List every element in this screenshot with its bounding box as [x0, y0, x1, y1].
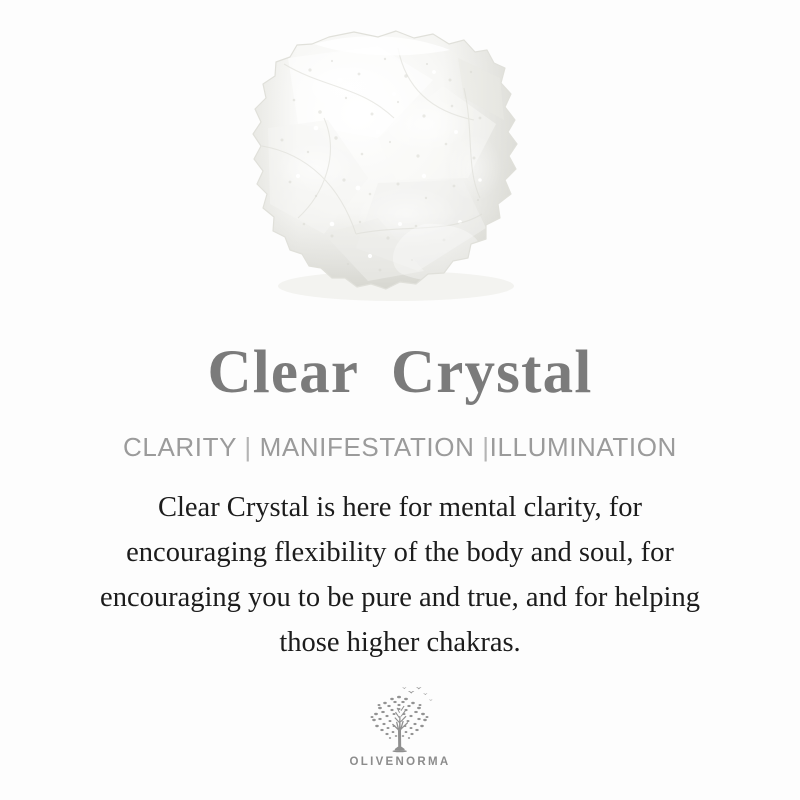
description-line-1: Clear Crystal is here for mental clarity…: [35, 485, 765, 530]
description-line-2: encouraging flexibility of the body and …: [35, 530, 765, 575]
spacer-1: [252, 432, 260, 462]
description-line-3: encouraging you to be pure and true, and…: [35, 575, 765, 620]
keyword-clarity: CLARITY: [123, 432, 237, 462]
description-line-4: those higher chakras.: [35, 620, 765, 665]
brand-name: OLIVENORMA: [350, 756, 451, 768]
product-description: Clear Crystal is here for mental clarity…: [35, 463, 765, 665]
keyword-list: CLARITY | MANIFESTATION |ILLUMINATION: [123, 403, 677, 463]
olive-tree-with-birds-icon: [361, 683, 439, 755]
crystal-stone-icon: [228, 28, 553, 313]
crystal-body: [228, 28, 553, 313]
keyword-separator-1: |: [244, 432, 251, 462]
keyword-separator-2: |: [482, 432, 489, 462]
keyword-manifestation: MANIFESTATION: [260, 432, 475, 462]
keyword-illumination: ILLUMINATION: [490, 432, 677, 462]
product-info-card: Clear Crystal CLARITY | MANIFESTATION |I…: [0, 0, 800, 800]
page-title: Clear Crystal: [208, 318, 593, 403]
brand-logo: OLIVENORMA: [0, 683, 800, 768]
product-image-container: [0, 0, 800, 318]
